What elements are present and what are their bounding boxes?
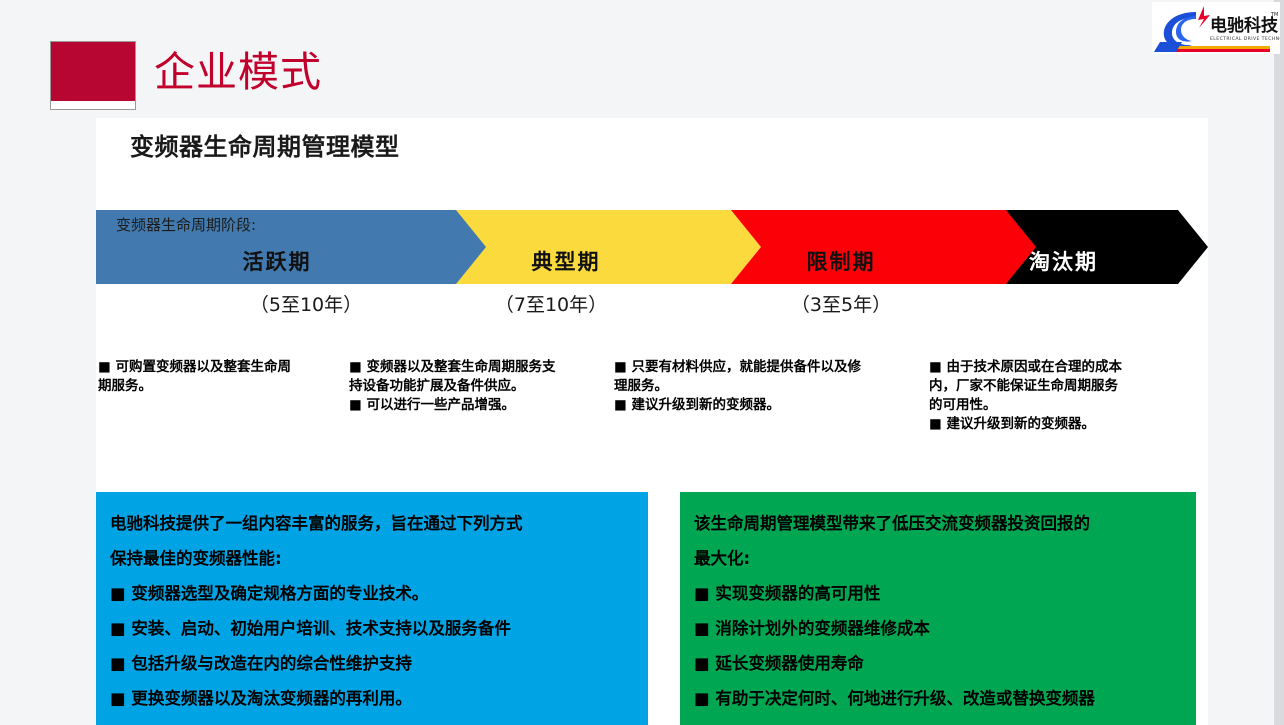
content-card: 变频器生命周期管理模型 变频器生命周期阶段: 活跃期 典型期 [96, 118, 1208, 725]
services-panel-blue: 电驰科技提供了一组内容丰富的服务，旨在通过下列方式 保持最佳的变频器性能: ■ … [96, 492, 648, 725]
lifecycle-stage-active: 变频器生命周期阶段: 活跃期 [96, 210, 486, 284]
svg-text:ELECTRICAL DRIVE TECHNOLOGY: ELECTRICAL DRIVE TECHNOLOGY [1210, 36, 1280, 42]
panel-lead-line: 保持最佳的变频器性能: [110, 541, 632, 576]
bullet-line: ■ 变频器以及整套生命周期服务支 [349, 358, 607, 377]
title-accent-square [50, 41, 136, 110]
stage-bullets-active: ■ 可购置变频器以及整套生命周 期服务。 [98, 358, 346, 396]
company-logo: 电驰科技 ELECTRICAL DRIVE TECHNOLOGY TM [1152, 2, 1280, 54]
svg-text:TM: TM [1270, 12, 1278, 18]
stage-bullets-typical: ■ 变频器以及整套生命周期服务支 持设备功能扩展及备件供应。 ■ 可以进行一些产… [349, 358, 607, 415]
panel-bullet: ■ 更换变频器以及淘汰变频器的再利用。 [110, 681, 632, 716]
stage-duration-typical: （7至10年） [436, 290, 666, 317]
right-edge-strip [1274, 0, 1284, 725]
bullet-line: ■ 只要有材料供应，就能提供备件以及修 [614, 358, 914, 377]
bullet-line: ■ 建议升级到新的变频器。 [614, 396, 914, 415]
panel-bullet: ■ 安装、启动、初始用户培训、技术支持以及服务备件 [110, 611, 632, 646]
bullet-line: ■ 建议升级到新的变频器。 [929, 415, 1191, 434]
slide-canvas: 电驰科技 ELECTRICAL DRIVE TECHNOLOGY TM 企业模式… [0, 0, 1284, 725]
stage-note-label: 变频器生命周期阶段: [116, 214, 256, 235]
panel-bullet: ■ 有助于决定何时、何地进行升级、改造或替换变频器 [694, 681, 1180, 716]
svg-text:电驰科技: 电驰科技 [1210, 15, 1279, 36]
panel-bullet: ■ 变频器选型及确定规格方面的专业技术。 [110, 576, 632, 611]
panel-lead-line: 最大化: [694, 541, 1180, 576]
stage-duration-limited: （3至5年） [726, 290, 956, 317]
bullet-line: 内，厂家不能保证生命周期服务 [929, 377, 1191, 396]
card-heading: 变频器生命周期管理模型 [130, 127, 400, 162]
benefits-panel-green: 该生命周期管理模型带来了低压交流变频器投资回报的 最大化: ■ 实现变频器的高可… [680, 492, 1196, 725]
lifecycle-chevron-band: 变频器生命周期阶段: 活跃期 典型期 限制期 [96, 210, 1208, 284]
stage-bullets-limited: ■ 只要有材料供应，就能提供备件以及修 理服务。 ■ 建议升级到新的变频器。 [614, 358, 914, 415]
bullet-line: 的可用性。 [929, 396, 1191, 415]
panel-bullet: ■ 包括升级与改造在内的综合性维护支持 [110, 646, 632, 681]
panel-bullet: ■ 延长变频器使用寿命 [694, 646, 1180, 681]
logo-artwork: 电驰科技 ELECTRICAL DRIVE TECHNOLOGY TM [1152, 2, 1280, 54]
stage-label-active: 活跃期 [96, 246, 486, 276]
bullet-line: 理服务。 [614, 377, 914, 396]
bullet-line: 期服务。 [98, 377, 346, 396]
panel-bullet: ■ 实现变频器的高可用性 [694, 576, 1180, 611]
stage-bullets-obsolete: ■ 由于技术原因或在合理的成本 内，厂家不能保证生命周期服务 的可用性。 ■ 建… [929, 358, 1191, 434]
bullet-line: ■ 可购置变频器以及整套生命周 [98, 358, 346, 377]
panel-bullet: ■ 消除计划外的变频器维修成本 [694, 611, 1180, 646]
bullet-line: ■ 可以进行一些产品增强。 [349, 396, 607, 415]
panel-lead-line: 该生命周期管理模型带来了低压交流变频器投资回报的 [694, 506, 1180, 541]
title-accent-square-fill [51, 42, 135, 101]
bullet-line: ■ 由于技术原因或在合理的成本 [929, 358, 1191, 377]
stage-duration-active: （5至10年） [191, 290, 421, 317]
panel-lead-line: 电驰科技提供了一组内容丰富的服务，旨在通过下列方式 [110, 506, 632, 541]
bullet-line: 持设备功能扩展及备件供应。 [349, 377, 607, 396]
page-title: 企业模式 [154, 44, 322, 100]
